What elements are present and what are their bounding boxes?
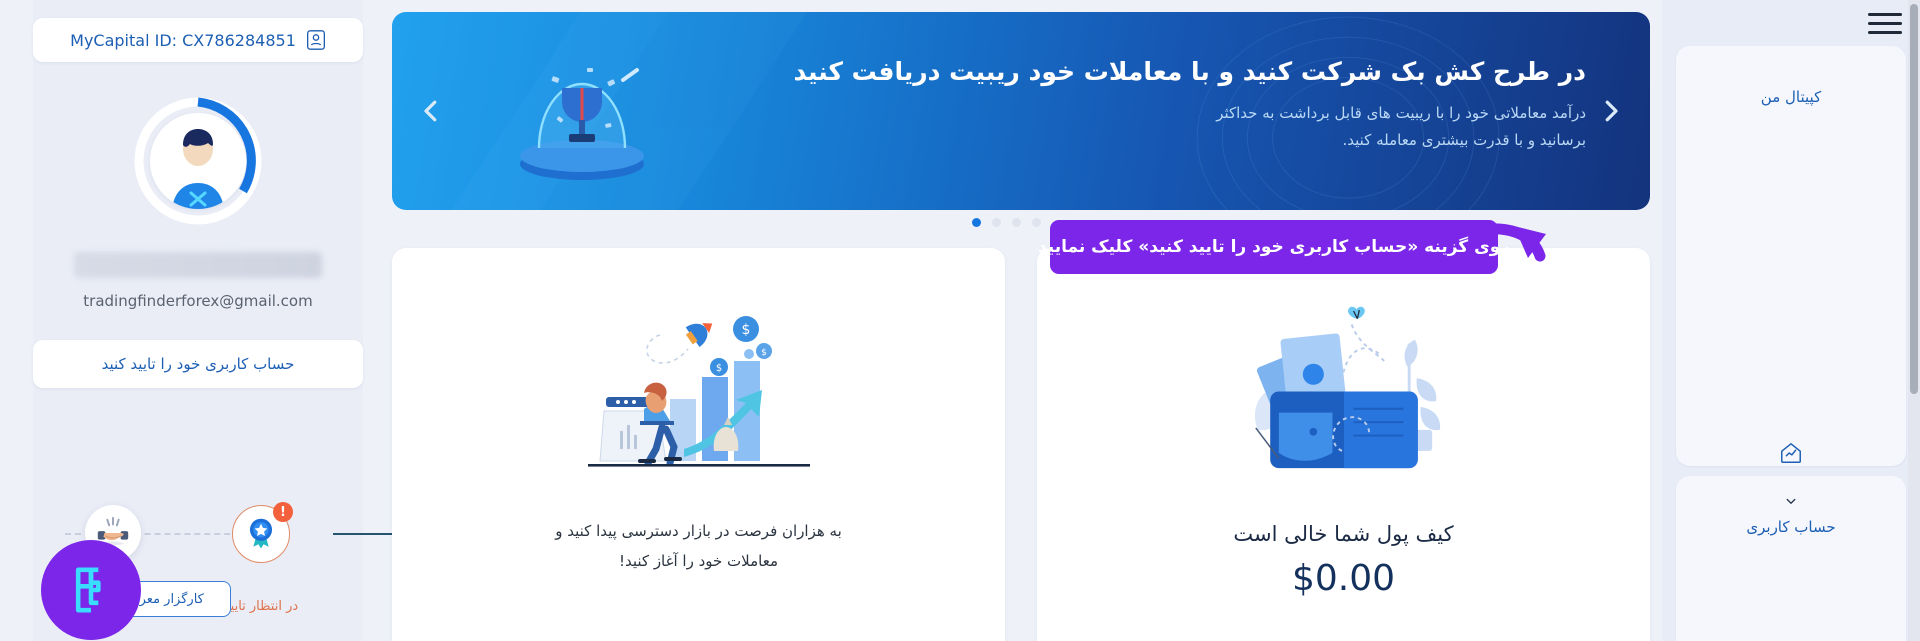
promo-banner: در طرح کش بک شرکت کنید و با معاملات خود … [392,12,1650,210]
user-email: tradingfinderforex@gmail.com [33,292,363,310]
carousel-dots [972,218,1041,227]
wallet-with-money-icon [1229,266,1459,516]
tooltip-callout-text: روی گزینه «حساب کاربری خود را تایید کنید… [1038,237,1510,257]
svg-text:$: $ [761,348,767,358]
avatar [33,96,363,226]
carousel-dot-1[interactable] [1032,218,1041,227]
sidebar-item-my-capital-label: کپیتال من [1761,88,1821,430]
mycapital-id-label: MyCapital ID: CX786284851 [70,31,296,50]
user-name-masked [74,252,322,278]
hamburger-menu-icon[interactable] [1866,10,1902,36]
wallet-card: کیف پول شما خالی است $0.00 [1037,248,1650,641]
svg-text:$: $ [741,322,750,338]
svg-text:$: $ [715,363,721,374]
verify-account-button[interactable]: حساب کاربری خود را تایید کنید [33,340,363,388]
market-caption-line1: به هزاران فرصت در بازار دسترسی پیدا کنید… [555,516,842,546]
app-root: MyCapital ID: CX786284851 [0,0,1920,641]
banner-subtitle-line2: برسانید و با قدرت بیشتری معامله کنید. [952,127,1586,154]
market-opportunities-card: $ $ $ [392,248,1005,641]
home-chart-icon [1778,440,1804,466]
banner-text-block: در طرح کش بک شرکت کنید و با معاملات خود … [952,54,1586,154]
status-badge: ! [273,502,293,522]
page-scrollbar-thumb[interactable] [1910,4,1918,394]
carousel-dot-3[interactable] [992,218,1001,227]
wallet-title: کیف پول شما خالی است [1233,522,1453,546]
dashboard-cards: کیف پول شما خالی است $0.00 $ $ $ [392,248,1650,641]
market-caption-line2: معاملات خود را آغاز کنید! [555,546,842,576]
award-ribbon-icon: ! [232,505,290,563]
chevron-right-icon[interactable] [1594,94,1628,128]
stepper-step-pending-caption: در انتظار تایید [223,599,299,614]
growth-chart-person-rocket-icon: $ $ $ [574,266,824,516]
tradingfinder-logo-icon[interactable] [41,540,141,640]
spacer [1784,64,1798,78]
banner-subtitle-line1: درآمد معاملاتی خود را با ریبیت های قابل … [952,100,1586,127]
sidebar-item-user-account-label: حساب کاربری [1746,518,1835,641]
main-content: در طرح کش بک شرکت کنید و با معاملات خود … [392,0,1650,641]
chevron-down-icon[interactable] [1784,494,1798,508]
sidebar-item-my-capital[interactable]: کپیتال من [1676,46,1906,466]
carousel-dot-4[interactable] [972,218,981,227]
wallet-amount: $0.00 [1292,558,1395,599]
stepper-step-pending[interactable]: ! در انتظار تایید [223,495,299,614]
chevron-left-icon[interactable] [414,94,448,128]
banner-title: در طرح کش بک شرکت کنید و با معاملات خود … [952,54,1586,90]
tooltip-callout: روی گزینه «حساب کاربری خود را تایید کنید… [1050,220,1498,274]
sidebar: کپیتال من حساب کاربری حساب کاربری خود را… [1662,0,1920,641]
profile-panel: MyCapital ID: CX786284851 [33,0,363,641]
sidebar-header [1676,0,1906,46]
page-scrollbar[interactable] [1908,0,1920,641]
trophy-under-glass-dome-icon [487,36,677,190]
sidebar-item-user-account[interactable]: حساب کاربری [1676,476,1906,641]
id-card-icon [306,29,326,51]
mycapital-id-card[interactable]: MyCapital ID: CX786284851 [33,18,363,62]
user-avatar-icon [150,113,246,209]
carousel-dot-2[interactable] [1012,218,1021,227]
